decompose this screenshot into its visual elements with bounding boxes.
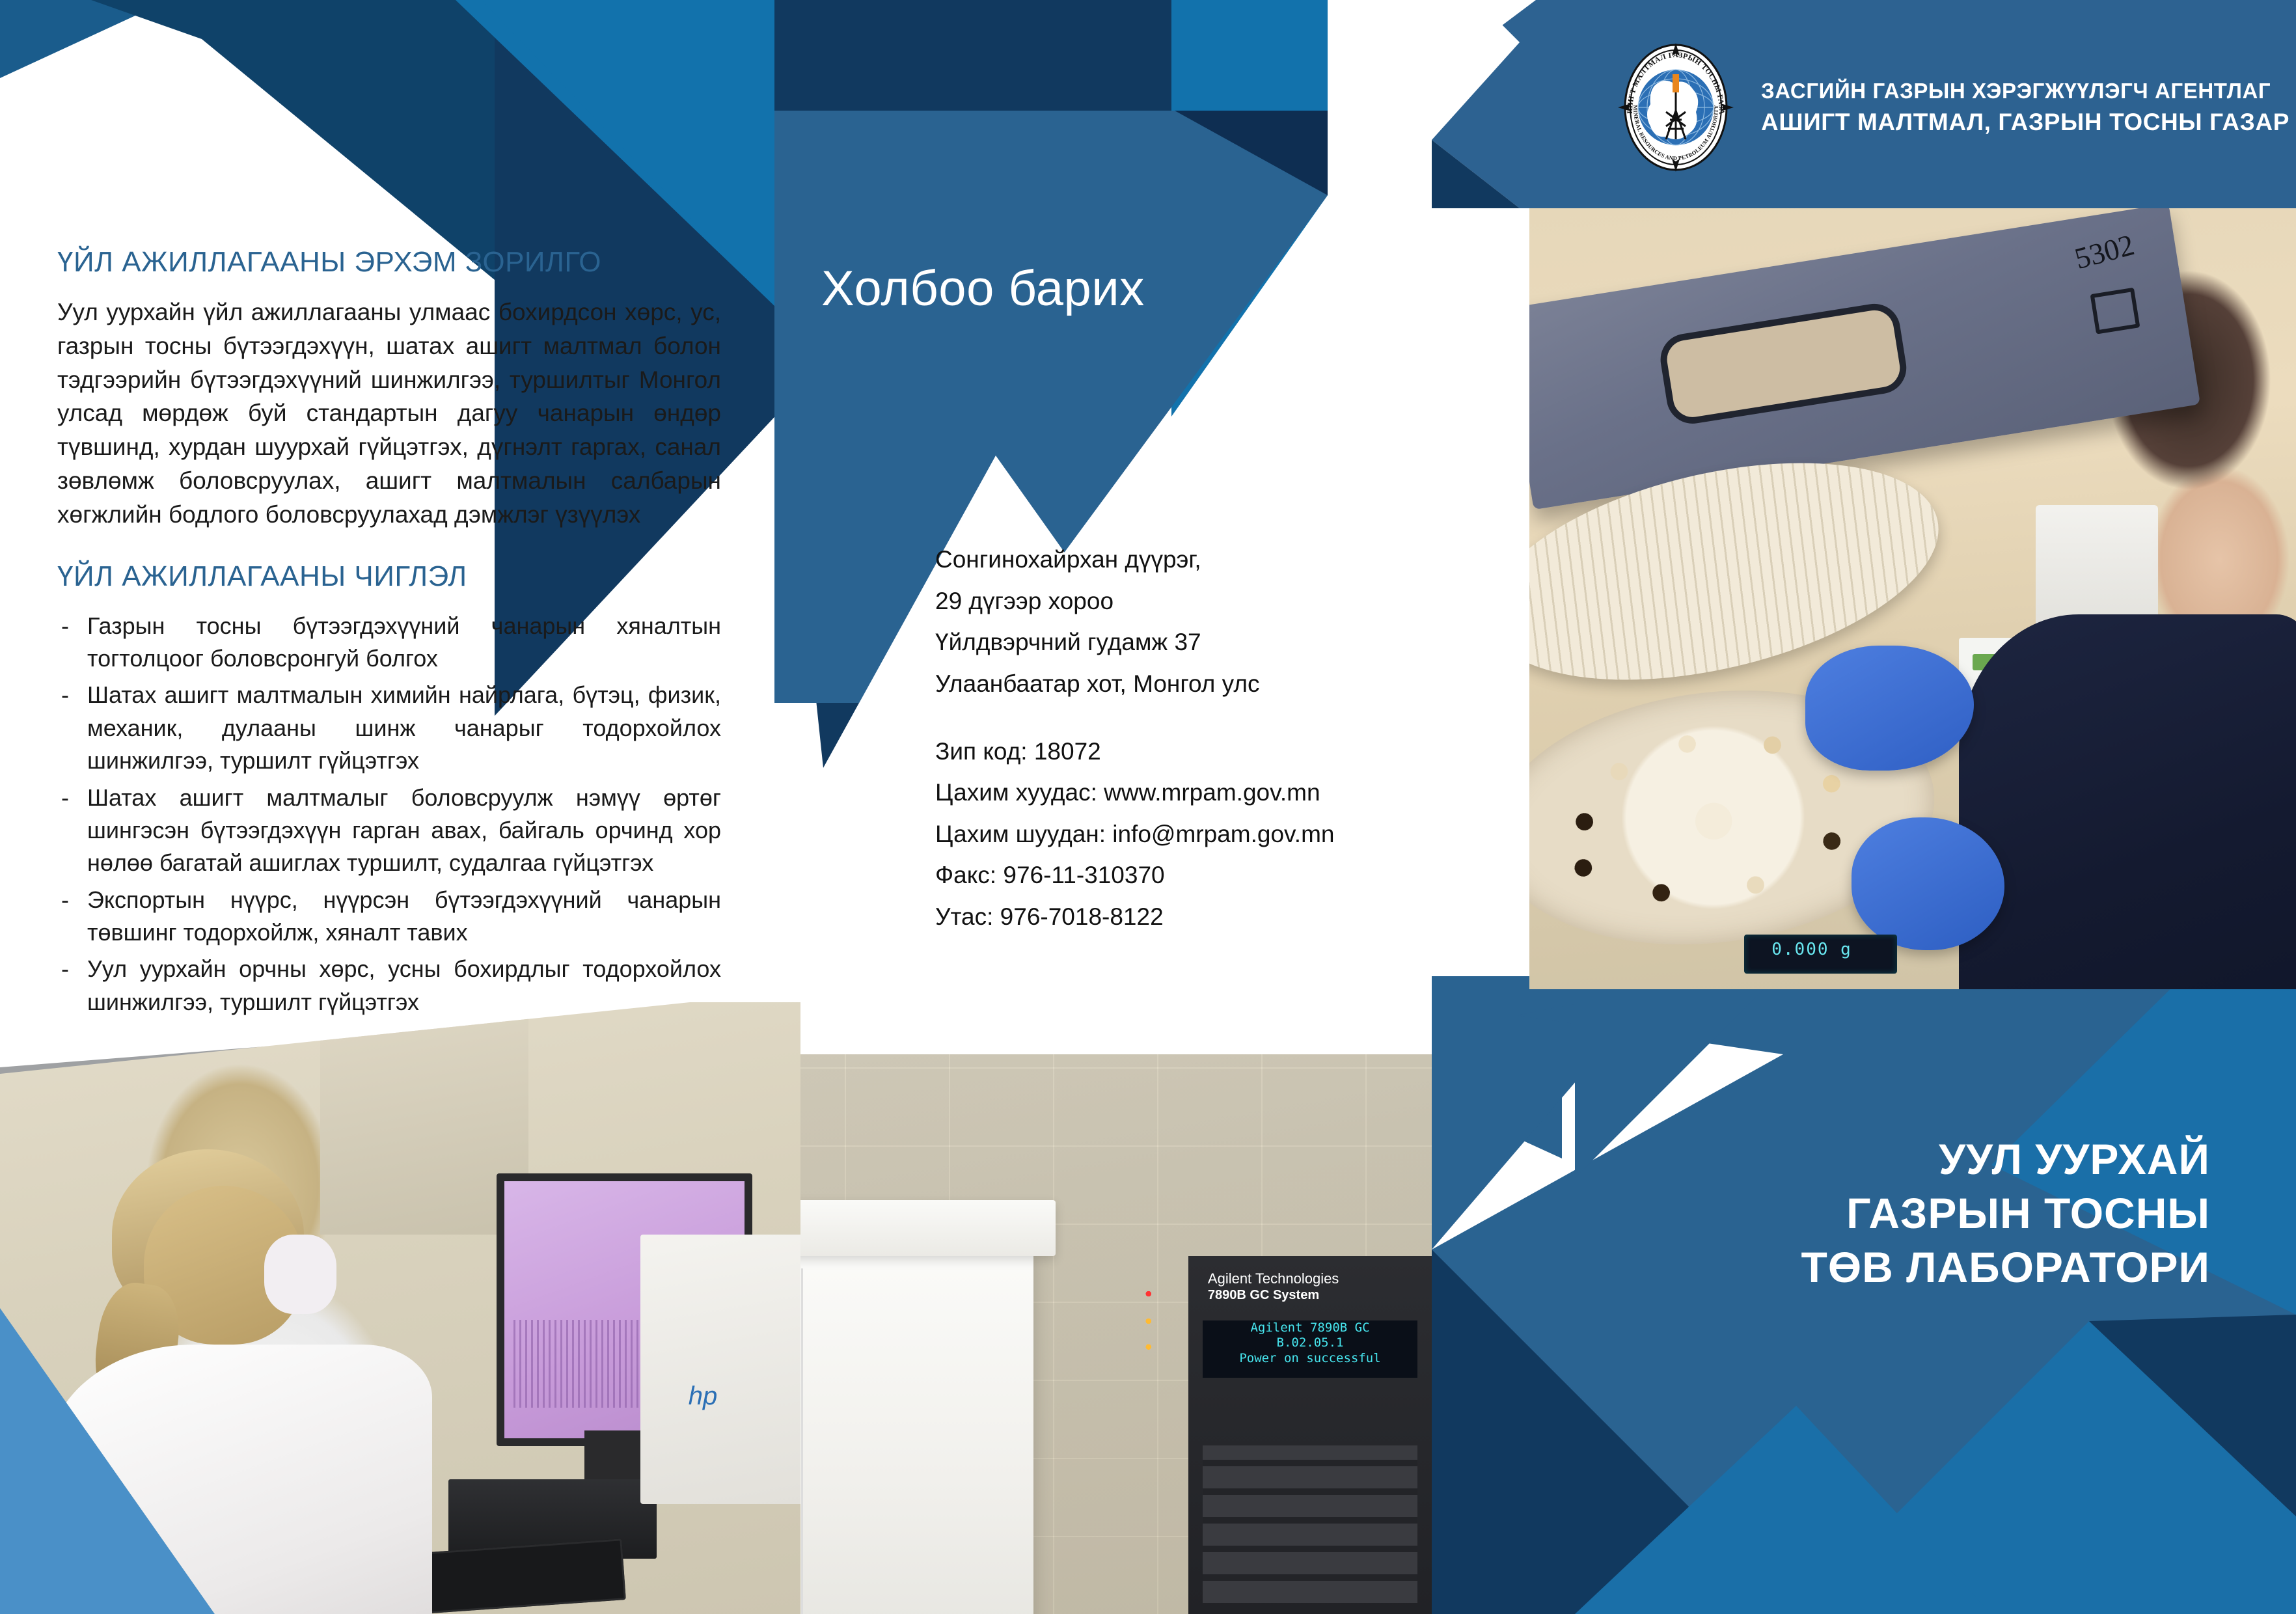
list-item: - Шатах ашигт малтмалыг боловсруулж нэмү… [57,782,721,880]
contact-address-line-3: Үйлдвэрчний гудамж 37 [935,622,1508,663]
brochure-page: 5302 0.000 g Agilent Technologies 7693 A… [0,0,2296,1614]
mission-text: Уул уурхайн үйл ажиллагааны улмаас бохир… [57,295,721,532]
contact-spacer [935,705,1508,731]
contact-zip: Зип код: 18072 [935,731,1508,773]
contact-address-line-4: Улаанбаатар хот, Монгол улс [935,663,1508,705]
lab-title-line-1: УУЛ УУРХАЙ [1801,1132,2210,1186]
shape-top-left-band [91,0,495,280]
lab-title-line-2: ГАЗРЫН ТОСНЫ [1801,1186,2210,1240]
directions-list: - Газрын тосны бүтээгдэхүүний чанарын хя… [57,610,721,1019]
lab-technician-ashing-furnace-photo: 5302 0.000 g [1529,208,2296,989]
mrpam-emblem-icon: АШИГТ МАЛТМАЛ ГАЗРЫН ТОСНЫ ГАЗАР MINERAL… [1607,39,1744,176]
printer-unit [640,1235,800,1504]
list-item: - Шатах ашигт малтмалын химийн найрлага,… [57,679,721,777]
furnace-lid: 5302 [1529,208,2200,510]
list-item: - Экспортын нүүрс, нүүрсэн бүтээгдэхүүни… [57,884,721,950]
high-temperature-warning-icon [2090,287,2140,334]
left-column: ҮЙЛ АЖИЛЛАГААНЫ ЭРХЭМ ЗОРИЛГО Уул уурхай… [57,246,721,1022]
face-mask [264,1235,336,1314]
contact-address-line-1: Сонгинохайрхан дүүрэг, [935,539,1508,581]
brand-line-2: АШИГТ МАЛТМАЛ, ГАЗРЫН ТОСНЫ ГАЗАР [1761,109,2289,136]
brand-header: АШИГТ МАЛТМАЛ ГАЗРЫН ТОСНЫ ГАЗАР MINERAL… [1607,39,2258,176]
hp-logo: hp [689,1382,718,1411]
mission-heading: ҮЙЛ АЖИЛЛАГААНЫ ЭРХЭМ ЗОРИЛГО [57,246,721,279]
furnace-lid-handle [1657,300,1911,427]
gloved-hand-upper [1805,646,1974,771]
list-item: - Газрын тосны бүтээгдэхүүний чанарын хя… [57,610,721,676]
list-item-text: Шатах ашигт малтмалын химийн найрлага, б… [87,681,721,774]
technician-torso [1959,614,2296,989]
bullet-marker: - [61,782,69,814]
balance-readout-value: 0.000 g [1771,940,1852,959]
list-item-text: Экспортын нүүрс, нүүрсэн бүтээгдэхүүний … [87,886,721,946]
lab-title: УУЛ УУРХАЙ ГАЗРЫН ТОСНЫ ТӨВ ЛАБОРАТОРИ [1801,1132,2210,1294]
lab-title-line-3: ТӨВ ЛАБОРАТОРИ [1801,1240,2210,1294]
bullet-marker: - [61,610,69,642]
bullet-marker: - [61,953,69,985]
contact-title: Холбоо барих [821,260,1145,317]
bullet-marker: - [61,679,69,711]
list-item-text: Шатах ашигт малтмалыг боловсруулж нэмүү … [87,784,721,877]
monitor-stand [584,1430,648,1479]
list-item: - Уул уурхайн орчны хөрс, усны бохирдлыг… [57,953,721,1019]
contact-fax: Факс: 976-11-310370 [935,855,1508,896]
gc-keypad [1203,1445,1417,1603]
directions-heading: ҮЙЛ АЖИЛЛАГААНЫ ЧИГЛЭЛ [57,560,721,593]
list-item-text: Уул уурхайн орчны хөрс, усны бохирдлыг т… [87,955,721,1015]
contact-website[interactable]: Цахим хуудас: www.mrpam.gov.mn [935,772,1508,814]
brand-line-1: ЗАСГИЙН ГАЗРЫН ХЭРЭГЖҮҮЛЭГЧ АГЕНТЛАГ [1761,79,2289,103]
contact-phone: Утас: 976-7018-8122 [935,896,1508,938]
contact-address-line-2: 29 дүгээр хороо [935,581,1508,622]
contact-email[interactable]: Цахим шуудан: info@mrpam.gov.mn [935,814,1508,855]
furnace-lid-code: 5302 [2071,227,2139,276]
contact-details: Сонгинохайрхан дүүрэг, 29 дүгээр хороо Ү… [935,539,1508,938]
bullet-marker: - [61,884,69,916]
list-item-text: Газрын тосны бүтээгдэхүүний чанарын хяна… [87,612,721,672]
gc-status-leds [1122,1278,1255,1356]
balance-readout: 0.000 g [1744,935,1898,974]
